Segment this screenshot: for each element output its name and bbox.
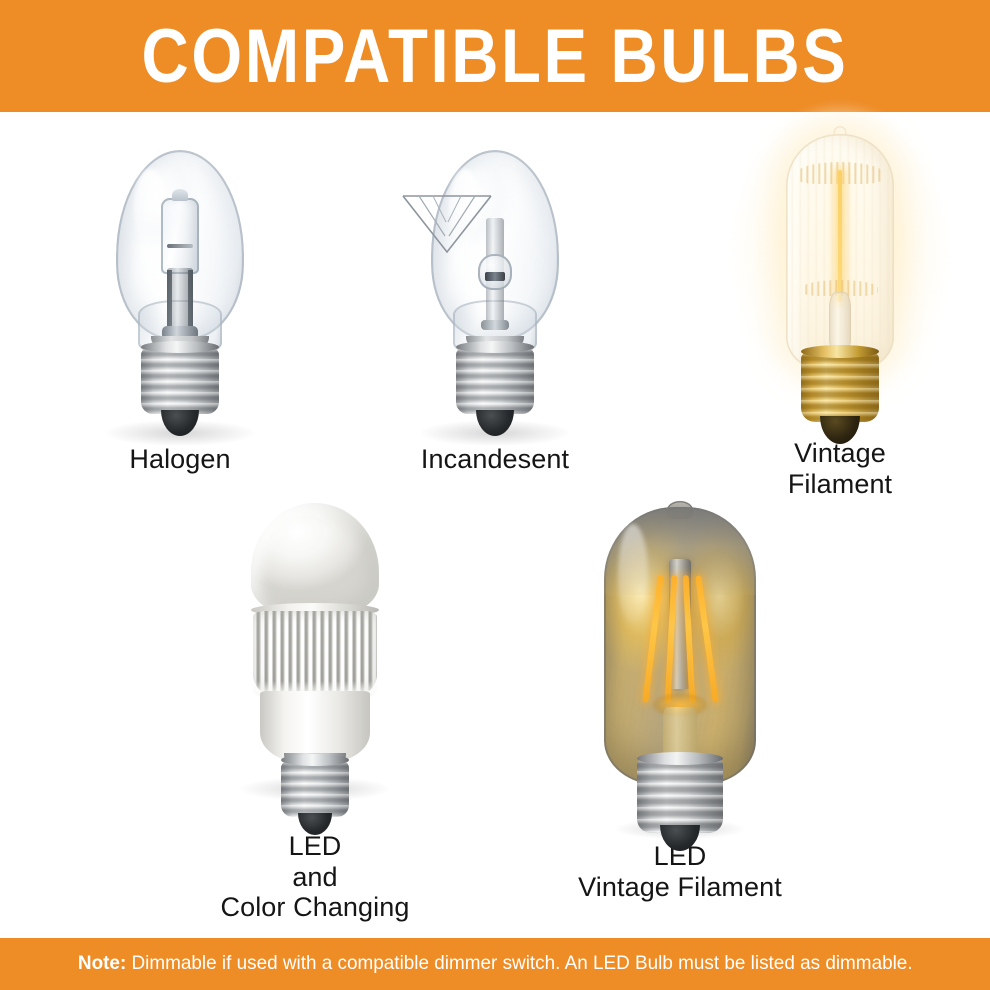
screw-base	[281, 761, 349, 817]
bulb-card-halogen: Halogen	[40, 142, 320, 475]
screw-base	[637, 759, 723, 833]
led-vintage-filament-bulb-graphic	[600, 501, 760, 827]
halogen-bulb-graphic	[110, 150, 250, 422]
led-filament-strip-3	[683, 575, 696, 703]
led-vintage-filament-bulb-icon	[565, 497, 795, 827]
base-contact-tip	[476, 410, 514, 436]
bulb-label-led: LED and Color Changing	[220, 831, 409, 923]
led-bulb-graphic	[245, 503, 385, 789]
incandescent-bulb-graphic	[425, 150, 565, 422]
bulb-card-incandescent: Incandesent	[355, 142, 635, 475]
led-filament-strip-1	[642, 575, 664, 703]
glass-stem	[167, 268, 193, 332]
bulb-grid: Halogen	[0, 112, 990, 938]
screw-base	[141, 348, 219, 414]
footer-note-text: Dimmable if used with a compatible dimme…	[126, 952, 912, 974]
led-filament-strip-2	[665, 575, 678, 703]
led-filament-strip-4	[695, 575, 719, 703]
base-contact-tip	[161, 410, 199, 436]
compatible-bulbs-infographic: COMPATIBLE BULBS Halog	[0, 0, 990, 990]
page-title: COMPATIBLE BULBS	[142, 19, 849, 95]
bulb-label-halogen: Halogen	[129, 444, 230, 475]
header-bar: COMPATIBLE BULBS	[0, 0, 990, 112]
glass-stem	[829, 292, 851, 348]
heat-sink-fins	[253, 611, 377, 703]
support-wires-svg	[399, 192, 495, 266]
bulb-card-led: LED and Color Changing	[165, 497, 465, 923]
vintage-filament-bulb-icon	[725, 114, 955, 432]
halogen-bulb-icon	[80, 142, 280, 432]
incandescent-bulb-icon	[395, 142, 595, 432]
screw-base	[801, 352, 879, 422]
bulb-card-led-vintage-filament: LED Vintage Filament	[520, 497, 840, 902]
filament	[485, 272, 505, 281]
led-bulb-icon	[205, 497, 425, 789]
stem-foot	[481, 320, 509, 330]
bulb-label-vintage-filament: Vintage Filament	[788, 438, 892, 499]
vintage-filament-bulb-graphic	[765, 124, 915, 432]
screw-base	[456, 348, 534, 414]
bulb-card-vintage-filament: Vintage Filament	[700, 114, 980, 499]
footer-bar: Note: Dimmable if used with a compatible…	[0, 938, 990, 990]
diffuser-dome	[251, 503, 379, 615]
footer-note-prefix: Note:	[78, 952, 126, 974]
halogen-capsule	[161, 198, 199, 274]
bulb-label-incandescent: Incandesent	[421, 444, 569, 475]
footer-note: Note: Dimmable if used with a compatible…	[78, 954, 913, 974]
